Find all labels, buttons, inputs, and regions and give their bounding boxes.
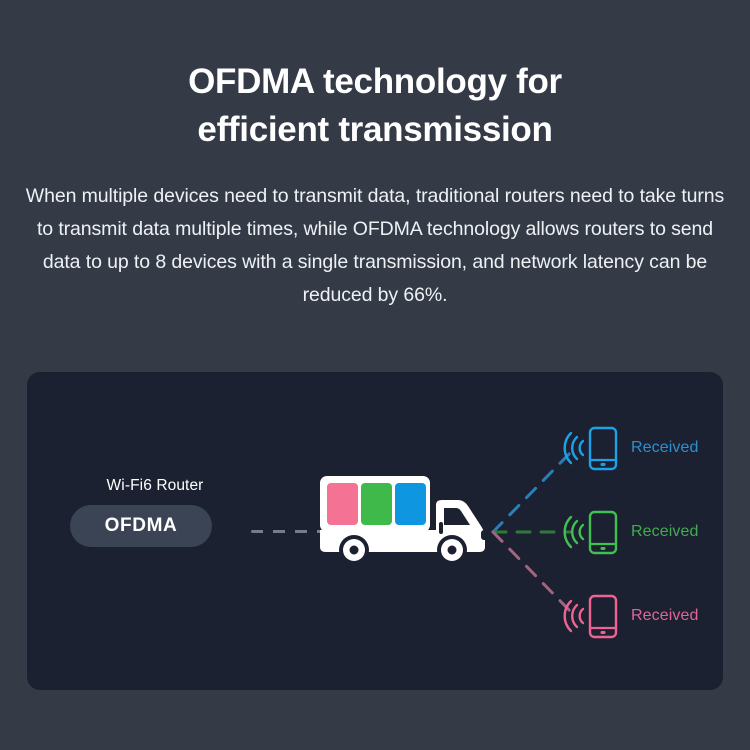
phone-signal-icon xyxy=(563,508,625,556)
device-status-label: Received xyxy=(631,439,699,457)
phone-signal-icon xyxy=(563,592,625,640)
ofdma-badge[interactable]: OFDMA xyxy=(70,505,212,547)
truck-wheel-rear xyxy=(339,535,369,565)
device-status-label: Received xyxy=(631,607,699,625)
device-row: Received xyxy=(563,589,699,643)
diagram-panel: Wi-Fi6 Router OFDMA xyxy=(27,372,723,690)
header: OFDMA technology for efficient transmiss… xyxy=(0,0,750,312)
page-title-line-2: efficient transmission xyxy=(197,110,552,149)
delivery-truck-icon xyxy=(318,472,498,573)
device-row: Received xyxy=(563,505,699,559)
connector-to-device-3 xyxy=(493,532,571,612)
connector-router-to-truck xyxy=(251,530,321,533)
router-group: Wi-Fi6 Router OFDMA xyxy=(70,477,255,547)
description-paragraph: When multiple devices need to transmit d… xyxy=(25,180,725,312)
router-label: Wi-Fi6 Router xyxy=(70,477,240,495)
cargo-block-green xyxy=(361,483,392,525)
ofdma-badge-label: OFDMA xyxy=(105,515,178,537)
device-status-label: Received xyxy=(631,523,699,541)
device-row: Received xyxy=(563,421,699,475)
cargo-block-pink xyxy=(327,483,358,525)
phone-signal-icon xyxy=(563,424,625,472)
page-title-line-1: OFDMA technology for xyxy=(188,62,562,101)
connector-to-device-1 xyxy=(493,452,571,532)
truck-wheel-front xyxy=(437,535,467,565)
page-title: OFDMA technology for efficient transmiss… xyxy=(75,58,675,154)
cargo-block-blue xyxy=(395,483,426,525)
